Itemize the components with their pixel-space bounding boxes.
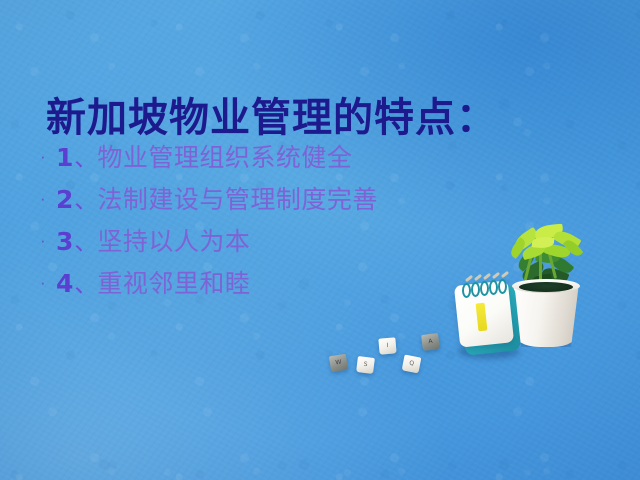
plant-leaf-icon xyxy=(544,241,571,260)
plant-leaf-icon xyxy=(534,224,563,240)
plant-leaf-icon xyxy=(508,237,528,259)
bullet-number: 4 xyxy=(56,269,74,298)
plant-stem xyxy=(524,245,536,281)
plant-stem xyxy=(546,245,557,279)
presentation-slide: 新加坡物业管理的特点： · 1 、 物业管理组织系统健全 · 2 、 法制建设与… xyxy=(0,0,640,480)
plant-leaf-icon xyxy=(563,237,584,259)
list-item: · 3 、 坚持以人为本 xyxy=(40,222,510,264)
bullet-text: 法制建设与管理制度完善 xyxy=(97,180,378,216)
plant-pot xyxy=(513,283,579,347)
bullet-marker-icon: · xyxy=(40,274,56,291)
page-title: 新加坡物业管理的特点： xyxy=(46,95,497,141)
bullet-number: 3 xyxy=(56,227,74,256)
bullet-text: 重视邻里和睦 xyxy=(97,264,250,300)
keycap: W xyxy=(329,354,348,372)
bullet-separator: 、 xyxy=(74,139,97,173)
plant-stem xyxy=(539,239,542,283)
keycap: S xyxy=(356,356,375,374)
plant-leaf-icon xyxy=(550,253,575,276)
bullet-number: 1 xyxy=(56,143,74,172)
notepad-mark xyxy=(476,303,488,332)
bullet-separator: 、 xyxy=(74,181,97,215)
plant-leaf-icon xyxy=(529,274,552,289)
bullet-marker-icon: · xyxy=(40,190,56,207)
plant-leaf-icon xyxy=(535,249,561,265)
bullet-text: 物业管理组织系统健全 xyxy=(97,138,352,174)
bullet-separator: 、 xyxy=(74,265,97,299)
list-item: · 2 、 法制建设与管理制度完善 xyxy=(40,180,510,222)
plant-pot-rim xyxy=(512,279,580,293)
list-item: · 1 、 物业管理组织系统健全 xyxy=(40,138,510,180)
plant-leaf-icon xyxy=(512,227,541,252)
plant-leaf-icon xyxy=(519,260,546,283)
notepad-shadow xyxy=(458,345,520,359)
keycap: Q xyxy=(402,355,422,374)
plant-leaf-icon xyxy=(521,242,548,260)
keycap: I xyxy=(378,337,396,354)
bullet-separator: 、 xyxy=(74,223,97,257)
plant-leaf-icon xyxy=(532,236,555,249)
list-item: · 4 、 重视邻里和睦 xyxy=(40,264,510,306)
bullet-marker-icon: · xyxy=(40,148,56,165)
bullet-list: · 1 、 物业管理组织系统健全 · 2 、 法制建设与管理制度完善 · 3 、… xyxy=(40,138,510,306)
bullet-text: 坚持以人为本 xyxy=(97,222,250,258)
bullet-marker-icon: · xyxy=(40,232,56,249)
plant-leaf-icon xyxy=(541,265,570,287)
bullet-number: 2 xyxy=(56,185,74,214)
plant-leaf-icon xyxy=(552,227,581,251)
keycap: A xyxy=(421,333,440,351)
plant-soil xyxy=(519,282,573,292)
plant-leaf-icon xyxy=(515,249,538,272)
